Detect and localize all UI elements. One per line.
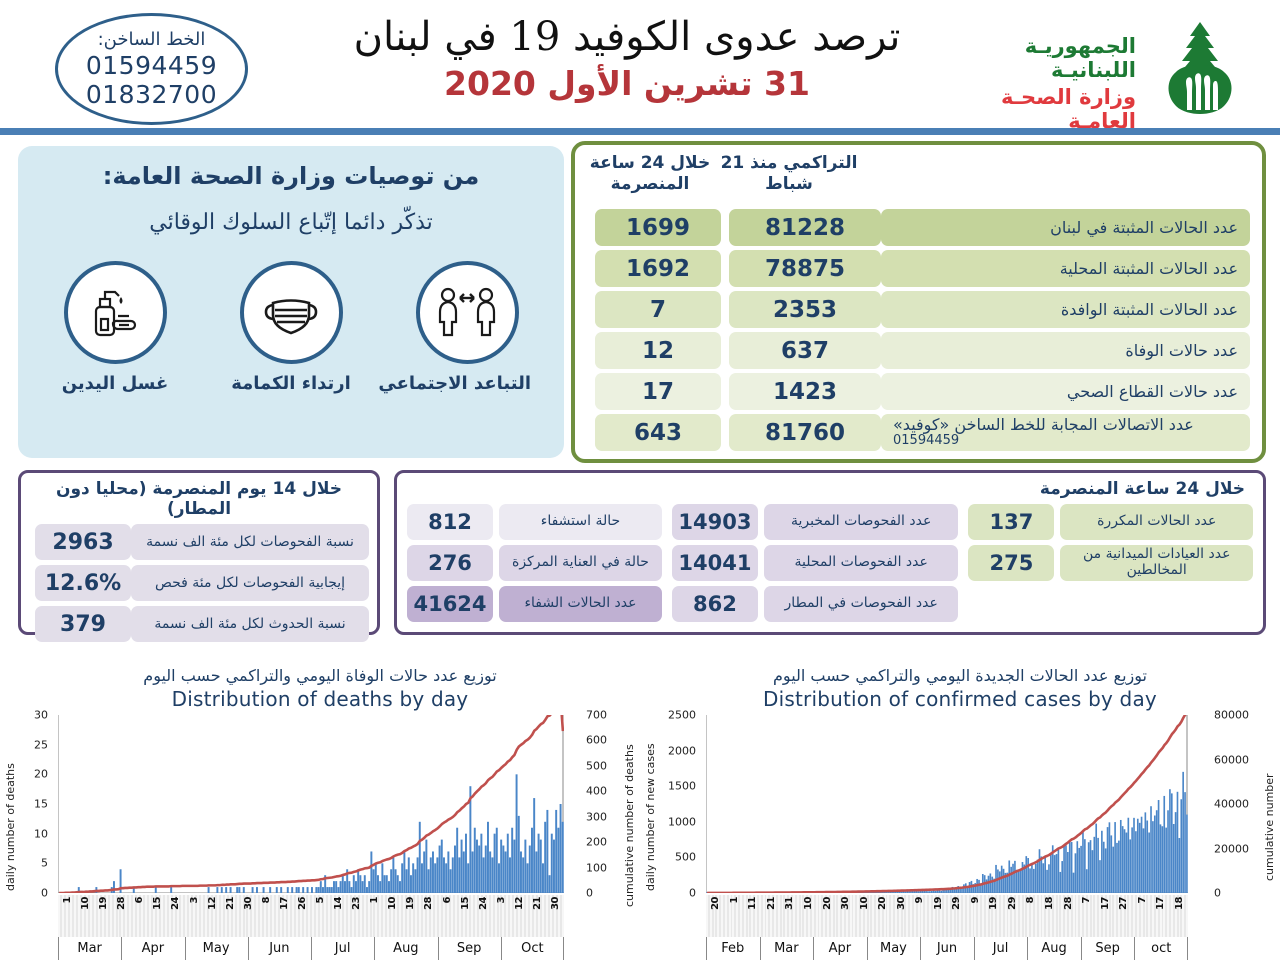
cell-last24: 643 bbox=[595, 414, 721, 451]
infographic-page: الخط الساخن: 01594459 01832700 ترصد عدوى… bbox=[0, 0, 1280, 960]
axis-tick-label: 0 bbox=[586, 887, 593, 900]
chart-deaths-date-ticks: 1101928615243122130817265142311019286152… bbox=[58, 895, 564, 937]
date-tick-label: 21 bbox=[766, 897, 777, 910]
date-tick-label: 19 bbox=[98, 897, 109, 910]
table-row: 1692 78875 عدد الحالات المثبتة المحلية bbox=[587, 250, 1250, 287]
panel-14-day-title: خلال 14 يوم المنصرمة (محليا دون المطار) bbox=[29, 479, 369, 519]
metric-label: عدد الفحوصات المحلية bbox=[764, 545, 959, 581]
date-tick-label: 17 bbox=[1100, 897, 1111, 910]
cell-label: عدد حالات القطاع الصحي bbox=[881, 373, 1250, 410]
month-label: Sep bbox=[1095, 941, 1120, 956]
axis-tick-label: 400 bbox=[586, 785, 607, 798]
column-hospitalization: 812 حالة استشفاء 276 حالة في العناية الم… bbox=[407, 504, 662, 622]
date-tick-label: 30 bbox=[896, 897, 907, 910]
table-row: 7 2353 عدد الحالات المثبتة الوافدة bbox=[587, 291, 1250, 328]
axis-tick-label: 0 bbox=[689, 887, 696, 900]
date-tick-label: 3 bbox=[189, 897, 200, 903]
axis-tick-label: 80000 bbox=[1214, 709, 1249, 722]
month-label: Aug bbox=[1041, 941, 1066, 956]
column-header-last24: خلال 24 ساعة المنصرمة bbox=[587, 153, 713, 196]
month-label: Sep bbox=[457, 941, 482, 956]
chart-deaths-plot-area: daily number of deaths 051015202530 cumu… bbox=[0, 715, 640, 945]
date-tick-label: 14 bbox=[333, 897, 344, 910]
month-separator bbox=[121, 937, 122, 960]
metric-value: 12.6% bbox=[35, 565, 131, 601]
chart-cases-y2label: cumulative number bbox=[1263, 741, 1276, 881]
month-separator bbox=[563, 937, 564, 960]
date-tick-label: 20 bbox=[877, 897, 888, 910]
cell-label: عدد الحالات المثبتة المحلية bbox=[881, 250, 1250, 287]
date-tick-label: 7 bbox=[1081, 897, 1092, 903]
axis-tick-label: 500 bbox=[675, 851, 696, 864]
axis-tick-label: 2000 bbox=[668, 744, 696, 757]
month-label: May bbox=[880, 941, 907, 956]
axis-tick-label: 20000 bbox=[1214, 842, 1249, 855]
axis-tick-label: 30 bbox=[34, 709, 48, 722]
cell-last24: 7 bbox=[595, 291, 721, 328]
date-tick-label: 1 bbox=[62, 897, 73, 903]
month-label: Apr bbox=[142, 941, 165, 956]
metric-label: عدد الحالات الشفاء bbox=[499, 586, 662, 622]
month-label: Apr bbox=[829, 941, 852, 956]
list-item: 137 عدد الحالات المكررة bbox=[968, 504, 1253, 540]
page-header: الخط الساخن: 01594459 01832700 ترصد عدوى… bbox=[0, 0, 1280, 132]
date-tick-label: 9 bbox=[970, 897, 981, 903]
metric-value: 276 bbox=[407, 545, 493, 581]
table-row: 12 637 عدد حالات الوفاة bbox=[587, 332, 1250, 369]
cell-cumulative: 81228 bbox=[729, 209, 881, 246]
cell-cumulative: 78875 bbox=[729, 250, 881, 287]
date-tick-label: 20 bbox=[822, 897, 833, 910]
metric-value: 137 bbox=[968, 504, 1054, 540]
chart-cases-canvas bbox=[706, 715, 1188, 893]
cell-last24: 17 bbox=[595, 373, 721, 410]
axis-tick-label: 1500 bbox=[668, 780, 696, 793]
chart-deaths: توزيع عدد حالات الوفاة اليومي والتراكمي … bbox=[0, 660, 640, 960]
month-label: Mar bbox=[77, 941, 102, 956]
date-tick-label: 19 bbox=[405, 897, 416, 910]
chart-deaths-y2-axis-ticks: 0100200300400500600700 bbox=[586, 715, 618, 893]
date-tick-label: 30 bbox=[550, 897, 561, 910]
axis-tick-label: 20 bbox=[34, 768, 48, 781]
date-tick-label: 21 bbox=[225, 897, 236, 910]
axis-tick-label: 0 bbox=[41, 887, 48, 900]
header-divider bbox=[0, 128, 1280, 135]
date-tick-label: 27 bbox=[1118, 897, 1129, 910]
chart-cases-month-labels: FebMarAprMayJunJulAugSepoct bbox=[706, 937, 1188, 960]
date-tick-label: 29 bbox=[951, 897, 962, 910]
metric-label: نسبة الفحوصات لكل مئة الف نسمة bbox=[131, 524, 369, 560]
metric-value: 379 bbox=[35, 606, 131, 642]
month-label: Jun bbox=[937, 941, 957, 956]
date-tick-label: 5 bbox=[315, 897, 326, 903]
column-tests: 14903 عدد الفحوصات المخبرية 14041 عدد ال… bbox=[672, 504, 959, 622]
date-tick-label: 8 bbox=[261, 897, 272, 903]
month-separator bbox=[706, 937, 707, 960]
panel-24-hour: خلال 24 ساعة المنصرمة 812 حالة استشفاء 2… bbox=[394, 470, 1266, 635]
cell-last24: 12 bbox=[595, 332, 721, 369]
month-label: Jul bbox=[993, 941, 1009, 956]
date-tick-label: 18 bbox=[1044, 897, 1055, 910]
metric-label: عدد العيادات الميدانية من المخالطين bbox=[1060, 545, 1253, 581]
date-tick-label: 3 bbox=[496, 897, 507, 903]
month-label: Jun bbox=[269, 941, 289, 956]
axis-tick-label: 600 bbox=[586, 734, 607, 747]
month-separator bbox=[1027, 937, 1028, 960]
month-separator bbox=[867, 937, 868, 960]
date-tick-label: 10 bbox=[387, 897, 398, 910]
social-distance-icon bbox=[416, 261, 519, 364]
date-tick-label: 1 bbox=[369, 897, 380, 903]
prevention-panel: من توصيات وزارة الصحة العامة: تذكّر دائم… bbox=[18, 146, 564, 458]
hotline-number-1: 01594459 bbox=[86, 51, 217, 81]
cell-cumulative: 81760 bbox=[729, 414, 881, 451]
hotline-label: الخط الساخن: bbox=[98, 29, 206, 50]
face-mask-icon bbox=[240, 261, 343, 364]
date-tick-label: 8 bbox=[1025, 897, 1036, 903]
list-item: 2963 نسبة الفحوصات لكل مئة الف نسمة bbox=[29, 524, 369, 560]
date-tick-label: 19 bbox=[933, 897, 944, 910]
panel-14-day: خلال 14 يوم المنصرمة (محليا دون المطار) … bbox=[18, 470, 380, 635]
hotline-number-2: 01832700 bbox=[86, 80, 217, 110]
cell-label: عدد الحالات المثبتة في لبنان bbox=[881, 209, 1250, 246]
axis-tick-label: 0 bbox=[1214, 887, 1221, 900]
chart-deaths-y-axis-ticks: 051015202530 bbox=[22, 715, 48, 893]
prevention-label-distance: التباعد الاجتماعي bbox=[403, 373, 531, 394]
logo-line-ministry: وزارة الصحـة العامـة bbox=[942, 85, 1136, 133]
chart-cases-title-en: Distribution of confirmed cases by day bbox=[640, 687, 1280, 711]
date-tick-label: 15 bbox=[152, 897, 163, 910]
month-separator bbox=[1081, 937, 1082, 960]
list-item: 14903 عدد الفحوصات المخبرية bbox=[672, 504, 959, 540]
list-item: 275 عدد العيادات الميدانية من المخالطين bbox=[968, 545, 1253, 581]
cell-last24: 1699 bbox=[595, 209, 721, 246]
cell-label-main: عدد الاتصالات المجابة للخط الساخن «كوفيد… bbox=[893, 416, 1194, 434]
date-tick-label: 17 bbox=[1155, 897, 1166, 910]
chart-cases-date-ticks: 2011121311020301020309192991929818287172… bbox=[706, 895, 1188, 937]
metric-label: عدد الحالات المكررة bbox=[1060, 504, 1253, 540]
list-item: 812 حالة استشفاء bbox=[407, 504, 662, 540]
metric-value: 14903 bbox=[672, 504, 758, 540]
date-tick-label: 30 bbox=[840, 897, 851, 910]
date-tick-label: 29 bbox=[1007, 897, 1018, 910]
date-tick-label: 15 bbox=[460, 897, 471, 910]
date-tick-label: 11 bbox=[747, 897, 758, 910]
table-row: 643 81760 عدد الاتصالات المجابة للخط الس… bbox=[587, 414, 1250, 451]
chart-deaths-canvas bbox=[58, 715, 564, 893]
axis-tick-label: 100 bbox=[586, 861, 607, 874]
month-separator bbox=[185, 937, 186, 960]
metric-label: عدد الفحوصات المخبرية bbox=[764, 504, 959, 540]
prevention-title: من توصيات وزارة الصحة العامة: bbox=[18, 162, 564, 190]
date-tick-label: 19 bbox=[988, 897, 999, 910]
month-separator bbox=[438, 937, 439, 960]
date-tick-label: 6 bbox=[134, 897, 145, 903]
metric-value: 2963 bbox=[35, 524, 131, 560]
date-tick-label: 12 bbox=[207, 897, 218, 910]
chart-cases-title-ar: توزيع عدد الحالات الجديدة اليومي والتراك… bbox=[640, 666, 1280, 685]
date-tick-label: 18 bbox=[1174, 897, 1185, 910]
metric-value: 14041 bbox=[672, 545, 758, 581]
date-tick-label: 28 bbox=[1063, 897, 1074, 910]
cell-label: عدد الحالات المثبتة الوافدة bbox=[881, 291, 1250, 328]
chart-deaths-title-ar: توزيع عدد حالات الوفاة اليومي والتراكمي … bbox=[0, 666, 640, 685]
date-tick-label: 31 bbox=[784, 897, 795, 910]
chart-cases-ylabel: daily number of new cases bbox=[644, 741, 657, 891]
prevention-icons-row: غسل اليدين ارتداء الكمامة bbox=[18, 261, 564, 394]
date-tick-label: 28 bbox=[116, 897, 127, 910]
axis-tick-label: 700 bbox=[586, 709, 607, 722]
month-label: Jul bbox=[335, 941, 351, 956]
metric-value: 275 bbox=[968, 545, 1054, 581]
date-tick-label: 12 bbox=[514, 897, 525, 910]
chart-cases-y2-axis-ticks: 020000400006000080000 bbox=[1214, 715, 1262, 893]
month-label: Mar bbox=[774, 941, 799, 956]
report-date: 31 تشرين الأول 2020 bbox=[322, 64, 932, 103]
prevention-label-mask: ارتداء الكمامة bbox=[227, 373, 355, 394]
list-item: 276 حالة في العناية المركزة bbox=[407, 545, 662, 581]
month-label: Oct bbox=[521, 941, 543, 956]
chart-cases: توزيع عدد الحالات الجديدة اليومي والتراك… bbox=[640, 660, 1280, 960]
month-separator bbox=[974, 937, 975, 960]
month-separator bbox=[1187, 937, 1188, 960]
list-item: 862 عدد الفحوصات في المطار bbox=[672, 586, 959, 622]
main-stats-header: خلال 24 ساعة المنصرمة التراكمي منذ 21 شب… bbox=[587, 153, 1250, 209]
date-tick-label: 28 bbox=[423, 897, 434, 910]
month-separator bbox=[374, 937, 375, 960]
date-tick-label: 7 bbox=[1137, 897, 1148, 903]
chart-deaths-title-en: Distribution of deaths by day bbox=[0, 687, 640, 711]
month-separator bbox=[58, 937, 59, 960]
main-stats-panel: خلال 24 ساعة المنصرمة التراكمي منذ 21 شب… bbox=[571, 141, 1266, 463]
axis-tick-label: 25 bbox=[34, 738, 48, 751]
month-separator bbox=[311, 937, 312, 960]
list-item: 14041 عدد الفحوصات المحلية bbox=[672, 545, 959, 581]
metric-label: عدد الفحوصات في المطار bbox=[764, 586, 959, 622]
axis-tick-label: 5 bbox=[41, 857, 48, 870]
metric-value: 41624 bbox=[407, 586, 493, 622]
prevention-subtitle: تذكّر دائما إتّباع السلوك الوقائي bbox=[18, 210, 564, 235]
column-header-cumulative: التراكمي منذ 21 شباط bbox=[713, 153, 865, 196]
chart-cases-y-axis-ticks: 05001000150020002500 bbox=[660, 715, 696, 893]
date-tick-label: 24 bbox=[170, 897, 181, 910]
hand-wash-icon bbox=[64, 261, 167, 364]
month-separator bbox=[760, 937, 761, 960]
date-tick-label: 26 bbox=[297, 897, 308, 910]
cell-label: عدد الاتصالات المجابة للخط الساخن «كوفيد… bbox=[881, 414, 1250, 451]
metric-value: 862 bbox=[672, 586, 758, 622]
axis-tick-label: 15 bbox=[34, 798, 48, 811]
cedar-emblem-icon bbox=[1146, 20, 1254, 120]
list-item: 379 نسبة الحدوث لكل مئة الف نسمة bbox=[29, 606, 369, 642]
prevention-item-handwash: غسل اليدين bbox=[51, 261, 179, 394]
cell-label: عدد حالات الوفاة bbox=[881, 332, 1250, 369]
month-separator bbox=[813, 937, 814, 960]
metric-label: حالة استشفاء bbox=[499, 504, 662, 540]
date-tick-label: 10 bbox=[859, 897, 870, 910]
metric-value: 812 bbox=[407, 504, 493, 540]
date-tick-label: 1 bbox=[729, 897, 740, 903]
axis-tick-label: 200 bbox=[586, 836, 607, 849]
month-label: Feb bbox=[721, 941, 744, 956]
column-contacts: 137 عدد الحالات المكررة 275 عدد العيادات… bbox=[968, 504, 1253, 622]
date-tick-label: 30 bbox=[243, 897, 254, 910]
month-label: Aug bbox=[393, 941, 418, 956]
cell-label-phone: 01594459 bbox=[893, 434, 959, 449]
panel-24-hour-columns: 812 حالة استشفاء 276 حالة في العناية الم… bbox=[407, 504, 1253, 622]
date-tick-label: 20 bbox=[710, 897, 721, 910]
date-tick-label: 10 bbox=[80, 897, 91, 910]
prevention-label-handwash: غسل اليدين bbox=[51, 373, 179, 394]
axis-tick-label: 2500 bbox=[668, 709, 696, 722]
table-row: 1699 81228 عدد الحالات المثبتة في لبنان bbox=[587, 209, 1250, 246]
logo-line-republic: الجمهوريـة اللبنانيـة bbox=[942, 34, 1136, 82]
cell-cumulative: 1423 bbox=[729, 373, 881, 410]
axis-tick-label: 500 bbox=[586, 759, 607, 772]
month-separator bbox=[920, 937, 921, 960]
chart-deaths-month-labels: MarAprMayJunJulAugSepOct bbox=[58, 937, 564, 960]
date-tick-label: 23 bbox=[351, 897, 362, 910]
date-tick-label: 24 bbox=[478, 897, 489, 910]
table-row: 17 1423 عدد حالات القطاع الصحي bbox=[587, 373, 1250, 410]
month-separator bbox=[248, 937, 249, 960]
month-separator bbox=[501, 937, 502, 960]
axis-tick-label: 40000 bbox=[1214, 798, 1249, 811]
prevention-item-mask: ارتداء الكمامة bbox=[227, 261, 355, 394]
date-tick-label: 21 bbox=[532, 897, 543, 910]
date-tick-label: 10 bbox=[803, 897, 814, 910]
metric-label: إيجابية الفحوصات لكل مئة فحص bbox=[131, 565, 369, 601]
metric-label: حالة في العناية المركزة bbox=[499, 545, 662, 581]
hotline-badge: الخط الساخن: 01594459 01832700 bbox=[55, 13, 248, 125]
cell-cumulative: 637 bbox=[729, 332, 881, 369]
title-block: ترصد عدوى الكوفيد 19 في لبنان 31 تشرين ا… bbox=[322, 14, 932, 103]
metric-label: نسبة الحدوث لكل مئة الف نسمة bbox=[131, 606, 369, 642]
axis-tick-label: 60000 bbox=[1214, 753, 1249, 766]
axis-tick-label: 300 bbox=[586, 810, 607, 823]
chart-cases-plot-area: daily number of new cases 05001000150020… bbox=[640, 715, 1280, 945]
page-title: ترصد عدوى الكوفيد 19 في لبنان bbox=[322, 14, 932, 60]
cell-cumulative: 2353 bbox=[729, 291, 881, 328]
date-tick-label: 9 bbox=[914, 897, 925, 903]
list-item: 12.6% إيجابية الفحوصات لكل مئة فحص bbox=[29, 565, 369, 601]
logo-text: الجمهوريـة اللبنانيـة وزارة الصحـة العام… bbox=[942, 34, 1136, 133]
axis-tick-label: 10 bbox=[34, 827, 48, 840]
cell-last24: 1692 bbox=[595, 250, 721, 287]
month-separator bbox=[1134, 937, 1135, 960]
chart-deaths-ylabel: daily number of deaths bbox=[4, 741, 17, 891]
month-label: oct bbox=[1151, 941, 1171, 956]
chart-deaths-y2label: cumulative number of deaths bbox=[623, 741, 636, 907]
list-item: 41624 عدد الحالات الشفاء bbox=[407, 586, 662, 622]
month-label: May bbox=[203, 941, 230, 956]
panel-24-hour-title: خلال 24 ساعة المنصرمة bbox=[407, 479, 1253, 499]
axis-tick-label: 1000 bbox=[668, 815, 696, 828]
prevention-item-distance: التباعد الاجتماعي bbox=[403, 261, 531, 394]
date-tick-label: 6 bbox=[442, 897, 453, 903]
ministry-logo: الجمهوريـة اللبنانيـة وزارة الصحـة العام… bbox=[942, 18, 1262, 118]
date-tick-label: 17 bbox=[279, 897, 290, 910]
